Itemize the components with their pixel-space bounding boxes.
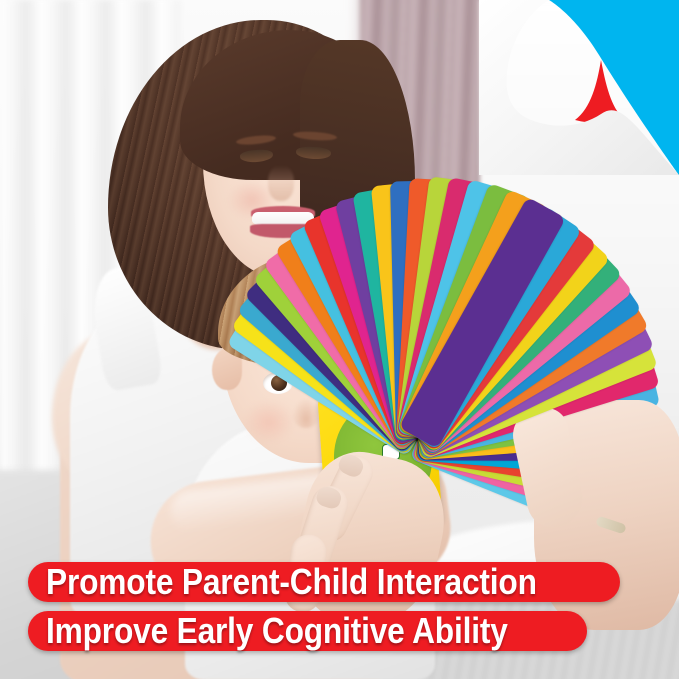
headline-text-2: Improve Early Cognitive Ability bbox=[46, 610, 508, 652]
mother-nose bbox=[268, 165, 294, 201]
baby-nose bbox=[292, 398, 320, 428]
headline-text-1: Promote Parent-Child Interaction bbox=[46, 561, 537, 603]
baby-cheek bbox=[243, 400, 295, 444]
headline-banner-2: Improve Early Cognitive Ability bbox=[28, 611, 587, 651]
product-marketing-image: Promote Parent-Child Interaction Improve… bbox=[0, 0, 679, 679]
corner-white-curl bbox=[479, 0, 679, 175]
headline-banner-1: Promote Parent-Child Interaction bbox=[28, 562, 620, 602]
page-curl-corner bbox=[479, 0, 679, 175]
